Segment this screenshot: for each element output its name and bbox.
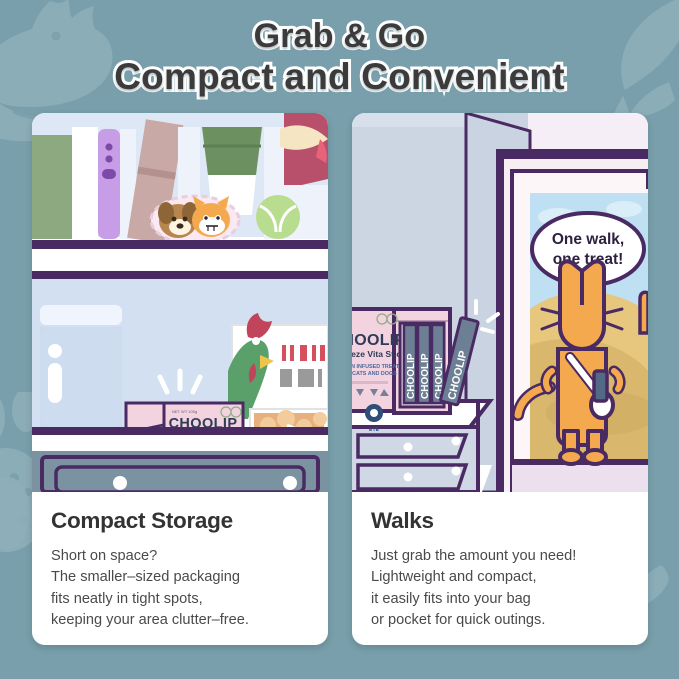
card-title: Compact Storage	[51, 508, 309, 534]
card-caption-walks: Walks Just grab the amount you need! Lig…	[352, 492, 648, 632]
pet-sticker-icon	[151, 196, 239, 244]
svg-text:CHOOLIP: CHOOLIP	[352, 332, 406, 349]
card-caption-compact-storage: Compact Storage Short on space? The smal…	[32, 492, 328, 632]
svg-text:One walk,: One walk,	[552, 231, 624, 248]
card-body: Just grab the amount you need! Lightweig…	[371, 546, 629, 632]
illustration-hallway-doorway: One walk, one treat!	[352, 113, 648, 492]
svg-text:CHOOLIP: CHOOLIP	[420, 353, 431, 399]
svg-text:VITAMIN INFUSED TREATS: VITAMIN INFUSED TREATS	[352, 364, 403, 370]
header-title-line2: Compact and Convenient	[0, 57, 679, 97]
feature-card-compact-storage[interactable]: CHOOLIP CHOOLIP CHOOLIP	[32, 113, 328, 645]
svg-text:CHOOLIP: CHOOLIP	[406, 353, 417, 399]
card-title: Walks	[371, 508, 629, 534]
feature-card-walks[interactable]: One walk, one treat!	[352, 113, 648, 645]
illustration-refrigerator-shelf: CHOOLIP CHOOLIP CHOOLIP	[32, 113, 328, 492]
poster-header: Grab & Go Compact and Convenient	[0, 18, 679, 97]
card-body: Short on space? The smaller–sized packag…	[51, 546, 309, 632]
svg-text:EYE: EYE	[369, 427, 380, 433]
svg-text:Squeeze Vita Stick: Squeeze Vita Stick	[352, 349, 406, 359]
svg-text:NET WT 100g: NET WT 100g	[172, 409, 197, 414]
svg-text:FOR CATS AND DOGS: FOR CATS AND DOGS	[352, 371, 397, 377]
feature-card-grid: CHOOLIP CHOOLIP CHOOLIP	[32, 113, 648, 645]
poster-stage: Grab & Go Compact and Convenient	[0, 0, 679, 679]
second-cat-silhouette	[640, 292, 648, 333]
header-title-line1: Grab & Go	[0, 18, 679, 55]
